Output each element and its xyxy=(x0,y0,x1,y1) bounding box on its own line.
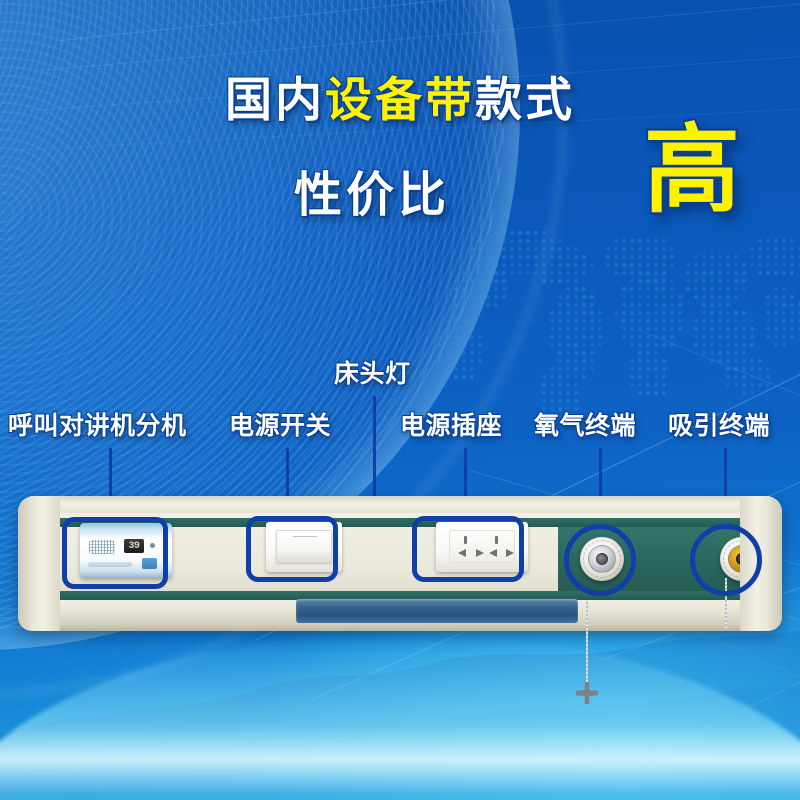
callout-label-oxygen-terminal: 氧气终端 xyxy=(534,414,636,439)
headline-text-domestic: 国内 xyxy=(225,73,325,126)
headline-block: 国内设备带款式 性价比 高 xyxy=(0,76,800,229)
unit-top-lip xyxy=(18,496,782,513)
headline-text-value-ratio: 性价比 xyxy=(294,155,450,225)
intercom-call-button[interactable] xyxy=(142,558,157,569)
oxygen-pull-cord[interactable] xyxy=(586,600,588,688)
oxygen-terminal-port[interactable] xyxy=(580,537,624,581)
speaker-grille-icon xyxy=(89,540,115,554)
unit-end-cap-left xyxy=(18,496,60,631)
socket-faceplate xyxy=(449,530,515,563)
headline-line-1: 国内设备带款式 xyxy=(0,76,800,123)
headline-text-high: 高 xyxy=(644,123,740,219)
oxygen-port-bore xyxy=(596,553,608,565)
power-switch[interactable] xyxy=(266,522,342,572)
bed-head-unit: 39 xyxy=(18,496,782,631)
status-led-icon xyxy=(150,543,155,548)
callout-label-power-switch: 电源开关 xyxy=(229,414,331,439)
callout-label-intercom: 呼叫对讲机分机 xyxy=(8,414,187,439)
callout-label-power-socket: 电源插座 xyxy=(400,414,502,439)
unit-end-cap-right xyxy=(740,496,782,631)
promo-stage: 国内设备带款式 性价比 高 呼叫对讲机分机 床头灯 电源开关 电源插座 氧气终端… xyxy=(0,0,800,800)
headline-text-style: 款式 xyxy=(475,73,575,126)
rocker-toggle[interactable] xyxy=(276,530,332,563)
callout-label-suction-terminal: 吸引终端 xyxy=(668,414,770,439)
intercom-display: 39 xyxy=(124,539,144,553)
headline-text-equipment-belt: 设备带 xyxy=(325,73,475,126)
bedside-lamp-diffuser xyxy=(296,599,578,623)
intercom-handset-slot xyxy=(88,562,132,567)
power-socket[interactable] xyxy=(436,522,528,572)
unit-body: 39 xyxy=(18,496,782,631)
suction-pull-cord[interactable] xyxy=(725,578,727,630)
nurse-call-intercom[interactable]: 39 xyxy=(80,523,172,578)
headline-line-2: 性价比 高 xyxy=(0,151,800,229)
callout-label-bedside-lamp: 床头灯 xyxy=(334,362,411,387)
